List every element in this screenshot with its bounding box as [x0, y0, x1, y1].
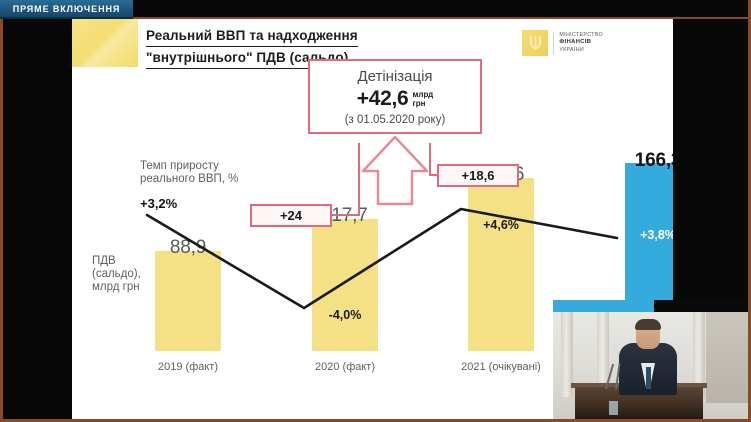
- bar-2019: [155, 251, 221, 351]
- callout-unit-line-1: млрд: [412, 90, 433, 99]
- video-speaker-tie: [646, 367, 651, 389]
- video-speaker-hair: [635, 319, 661, 330]
- gdp-series-legend: Темп приросту реального ВВП, %: [140, 160, 238, 186]
- frame-border-left: [0, 0, 3, 422]
- gdp-legend-line-1: Темп приросту: [140, 160, 238, 173]
- bar-value-forecast: 166,3: [613, 150, 673, 172]
- callout-unit: млрд грн: [412, 90, 433, 108]
- vat-legend-line-2: (сальдо),: [92, 268, 141, 281]
- live-broadcast-badge: ПРЯМЕ ВКЛЮЧЕННЯ: [0, 0, 133, 19]
- gdp-legend-line-2: реального ВВП, %: [140, 173, 238, 186]
- delta-box-2021: +18,6: [437, 164, 519, 187]
- gdp-pct-2021: +4,6%: [456, 218, 546, 232]
- bar-2021: [468, 178, 534, 351]
- callout-value-row: +42,6 млрд грн: [357, 87, 433, 111]
- broadcast-screen: ПРЯМЕ ВКЛЮЧЕННЯ Реальний ВВП та надходже…: [0, 0, 751, 422]
- x-axis-label-2020: 2020 (факт): [290, 361, 400, 373]
- callout-value: +42,6: [357, 87, 409, 111]
- video-water-glass: [609, 401, 618, 415]
- x-axis-label-2019: 2019 (факт): [133, 361, 243, 373]
- video-top-strip: [553, 300, 654, 312]
- vat-legend-line-1: ПДВ: [92, 255, 141, 268]
- live-video-inset[interactable]: [553, 311, 748, 419]
- vat-legend-line-3: млрд грн: [92, 281, 141, 294]
- video-wall-panel: [706, 311, 748, 403]
- bar-2020: [312, 219, 378, 351]
- gdp-pct-2019: +3,2%: [140, 196, 177, 211]
- callout-unit-line-2: грн: [412, 99, 433, 108]
- delta-box-2020: +24: [250, 204, 332, 227]
- gdp-pct-2020: -4,0%: [300, 308, 390, 322]
- live-badge-label: ПРЯМЕ ВКЛЮЧЕННЯ: [13, 4, 120, 14]
- callout-title: Детінізація: [357, 68, 432, 85]
- x-axis-label-2021: 2021 (очікувані): [446, 361, 556, 373]
- vat-series-legend: ПДВ (сальдо), млрд грн: [92, 255, 141, 294]
- detinization-callout: Детінізація +42,6 млрд грн (з 01.05.2020…: [308, 59, 482, 134]
- gdp-pct-forecast: +3,8%: [613, 228, 673, 242]
- video-top-strip-dark: [654, 300, 748, 312]
- callout-note: (з 01.05.2020 року): [345, 114, 446, 126]
- bar-value-2019: 88,9: [143, 237, 233, 259]
